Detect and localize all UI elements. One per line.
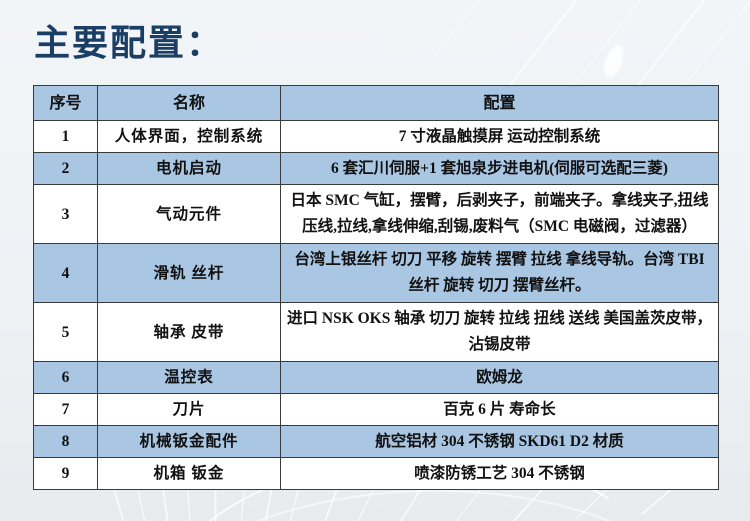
decorative-streak xyxy=(421,0,521,74)
cell-config: 欧姆龙 xyxy=(281,362,719,394)
table-body: 1人体界面，控制系统7 寸液晶触摸屏 运动控制系统2电机启动6 套汇川伺服+1 … xyxy=(34,121,719,490)
page-title: 主要配置： xyxy=(34,20,224,66)
table-row: 7刀片百克 6 片 寿命长 xyxy=(34,394,719,426)
cell-index: 9 xyxy=(34,458,98,490)
column-header-index: 序号 xyxy=(34,86,98,121)
cell-index: 7 xyxy=(34,394,98,426)
column-header-config: 配置 xyxy=(281,86,719,121)
cell-index: 4 xyxy=(34,244,98,303)
cell-index: 6 xyxy=(34,362,98,394)
cell-config: 7 寸液晶触摸屏 运动控制系统 xyxy=(281,121,719,153)
cell-index: 1 xyxy=(34,121,98,153)
table-row: 2电机启动6 套汇川伺服+1 套旭泉步进电机(伺服可选配三菱) xyxy=(34,153,719,185)
cell-index: 3 xyxy=(34,185,98,244)
decorative-blob xyxy=(601,42,628,79)
cell-name: 气动元件 xyxy=(98,185,281,244)
cell-name: 刀片 xyxy=(98,394,281,426)
cell-name: 人体界面，控制系统 xyxy=(98,121,281,153)
spec-table: 序号 名称 配置 1人体界面，控制系统7 寸液晶触摸屏 运动控制系统2电机启动6… xyxy=(33,85,719,490)
cell-config: 日本 SMC 气缸，摆臂，后剥夹子，前端夹子。拿线夹子,扭线压线,拉线,拿线伸缩… xyxy=(281,185,719,244)
cell-config: 进口 NSK OKS 轴承 切刀 旋转 拉线 扭线 送线 美国盖茨皮带，沾锡皮带 xyxy=(281,303,719,362)
cell-name: 温控表 xyxy=(98,362,281,394)
table-row: 4滑轨 丝杆台湾上银丝杆 切刀 平移 旋转 摆臂 拉线 拿线导轨。台湾 TBI … xyxy=(34,244,719,303)
table-row: 8机械钣金配件航空铝材 304 不锈钢 SKD61 D2 材质 xyxy=(34,426,719,458)
cell-index: 5 xyxy=(34,303,98,362)
cell-name: 滑轨 丝杆 xyxy=(98,244,281,303)
table-row: 9机箱 钣金喷漆防锈工艺 304 不锈钢 xyxy=(34,458,719,490)
spec-table-container: 序号 名称 配置 1人体界面，控制系统7 寸液晶触摸屏 运动控制系统2电机启动6… xyxy=(33,85,718,490)
slide-canvas: 主要配置： 序号 名称 配置 1人体界面，控制系统7 寸液晶触摸屏 运动控制系统… xyxy=(0,0,750,521)
table-header-row: 序号 名称 配置 xyxy=(34,86,719,121)
cell-config: 喷漆防锈工艺 304 不锈钢 xyxy=(281,458,719,490)
cell-name: 电机启动 xyxy=(98,153,281,185)
table-row: 5轴承 皮带进口 NSK OKS 轴承 切刀 旋转 拉线 扭线 送线 美国盖茨皮… xyxy=(34,303,719,362)
table-row: 6温控表欧姆龙 xyxy=(34,362,719,394)
cell-name: 轴承 皮带 xyxy=(98,303,281,362)
table-header: 序号 名称 配置 xyxy=(34,86,719,121)
cell-index: 2 xyxy=(34,153,98,185)
cell-config: 6 套汇川伺服+1 套旭泉步进电机(伺服可选配三菱) xyxy=(281,153,719,185)
cell-config: 百克 6 片 寿命长 xyxy=(281,394,719,426)
cell-name: 机械钣金配件 xyxy=(98,426,281,458)
cell-name: 机箱 钣金 xyxy=(98,458,281,490)
table-row: 3气动元件日本 SMC 气缸，摆臂，后剥夹子，前端夹子。拿线夹子,扭线压线,拉线… xyxy=(34,185,719,244)
cell-config: 航空铝材 304 不锈钢 SKD61 D2 材质 xyxy=(281,426,719,458)
cell-config: 台湾上银丝杆 切刀 平移 旋转 摆臂 拉线 拿线导轨。台湾 TBI 丝杆 旋转 … xyxy=(281,244,719,303)
column-header-name: 名称 xyxy=(98,86,281,121)
cell-index: 8 xyxy=(34,426,98,458)
table-row: 1人体界面，控制系统7 寸液晶触摸屏 运动控制系统 xyxy=(34,121,719,153)
